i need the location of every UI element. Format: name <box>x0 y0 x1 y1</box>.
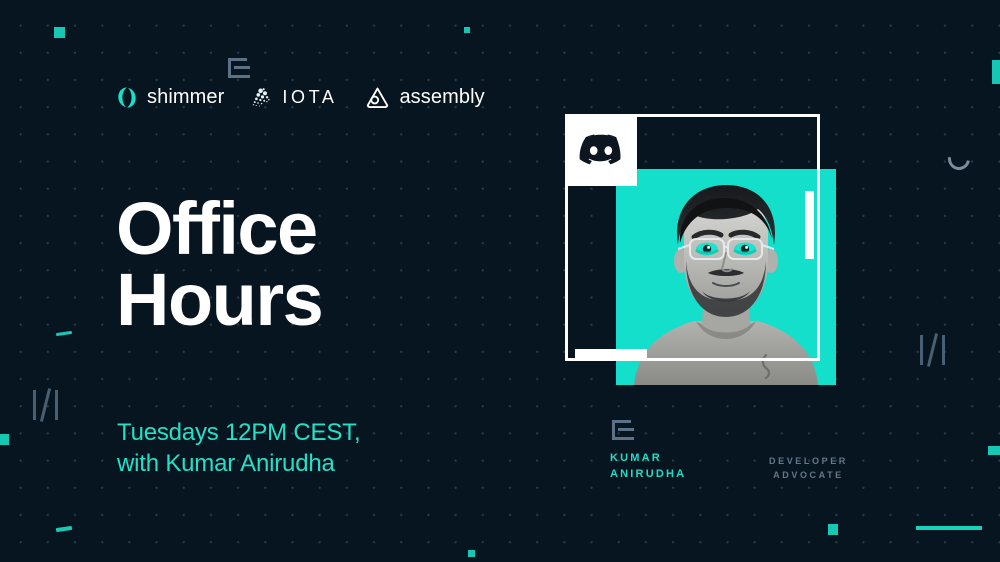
teal-square-accent <box>54 27 65 38</box>
hero-outline-frame <box>565 114 820 361</box>
schedule-subtitle: Tuesdays 12PM CEST, with Kumar Anirudha <box>117 418 360 479</box>
teal-bar-accent <box>992 60 1000 84</box>
teal-bar-accent <box>988 446 1000 455</box>
bracket-e-glyph <box>612 420 634 440</box>
promo-banner: shimmer <box>0 0 1000 562</box>
logo-iota-label: IOTA <box>282 87 337 108</box>
speaker-name: KUMAR ANIRUDHA <box>610 451 686 483</box>
teal-line-accent <box>916 526 982 530</box>
logo-assembly[interactable]: assembly <box>365 86 484 109</box>
bracket-e-glyph <box>228 58 250 78</box>
teal-square-accent <box>828 524 838 535</box>
hero-bar-accent <box>575 349 647 358</box>
slash-bars-glyph <box>920 335 946 365</box>
teal-dash-accent <box>56 331 72 336</box>
logo-assembly-label: assembly <box>399 86 484 109</box>
assembly-logomark <box>365 86 390 109</box>
shimmer-logomark <box>116 86 138 109</box>
logo-shimmer-label: shimmer <box>147 86 224 109</box>
iota-logomark <box>252 87 273 108</box>
logo-iota[interactable]: IOTA <box>252 87 337 108</box>
slash-bars-glyph <box>33 390 59 420</box>
page-title: Office Hours <box>116 193 322 335</box>
partner-logo-row: shimmer <box>116 86 485 109</box>
teal-square-accent <box>0 434 9 445</box>
speaker-role: DEVELOPER ADVOCATE <box>769 455 848 483</box>
hero-bar-accent <box>805 191 814 259</box>
teal-square-accent <box>464 27 470 33</box>
hero-composition <box>553 103 853 395</box>
logo-shimmer[interactable]: shimmer <box>116 86 224 109</box>
teal-dash-accent <box>56 526 72 532</box>
teal-square-accent <box>468 550 475 557</box>
crescent-glyph <box>944 144 975 175</box>
